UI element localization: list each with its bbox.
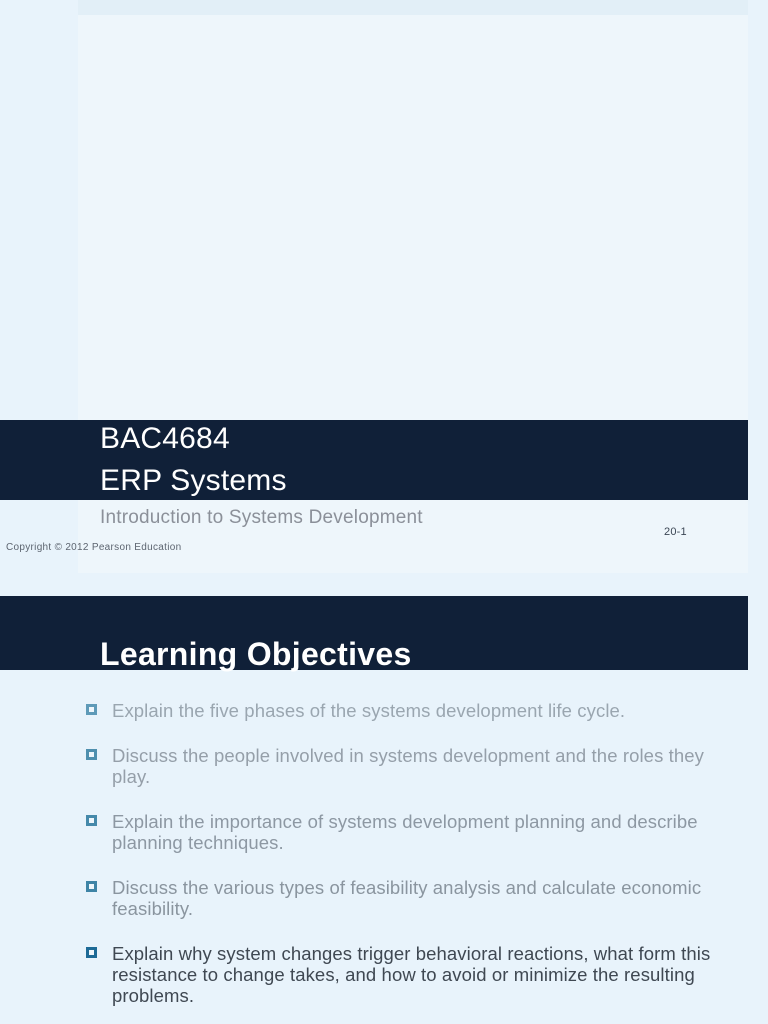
list-item-label: Explain the five phases of the systems d…	[112, 700, 625, 721]
list-item-label: Discuss the people involved in systems d…	[112, 745, 704, 787]
course-name-line: ERP Systems	[100, 460, 700, 502]
square-bullet-icon	[86, 947, 97, 958]
copyright-notice: Copyright © 2012 Pearson Education	[6, 542, 181, 553]
slide-title-block: BAC4684 ERP Systems	[100, 418, 700, 502]
list-item-label: Discuss the various types of feasibility…	[112, 877, 701, 919]
objectives-bullet-list: Explain the five phases of the systems d…	[86, 700, 722, 1006]
list-item: Discuss the various types of feasibility…	[86, 877, 722, 919]
slide-number-label: 20-1	[664, 526, 687, 538]
square-bullet-icon	[86, 749, 97, 760]
slide-subtitle: Introduction to Systems Development	[100, 506, 423, 530]
square-bullet-icon	[86, 704, 97, 715]
list-item: Explain the importance of systems develo…	[86, 811, 722, 853]
course-code-line: BAC4684	[100, 418, 700, 460]
document-canvas: BAC4684 ERP Systems Introduction to Syst…	[0, 0, 768, 1024]
square-bullet-icon	[86, 815, 97, 826]
slide-learning-objectives: Learning Objectives Explain the five pha…	[0, 585, 768, 1024]
list-item-label: Explain the importance of systems develo…	[112, 811, 698, 853]
list-item: Explain why system changes trigger behav…	[86, 943, 722, 1006]
list-item: Discuss the people involved in systems d…	[86, 745, 722, 787]
objectives-heading: Learning Objectives	[100, 633, 412, 675]
square-bullet-icon	[86, 881, 97, 892]
list-item-label: Explain why system changes trigger behav…	[112, 943, 710, 1006]
slide-title: BAC4684 ERP Systems Introduction to Syst…	[0, 0, 768, 585]
list-item: Explain the five phases of the systems d…	[86, 700, 722, 721]
